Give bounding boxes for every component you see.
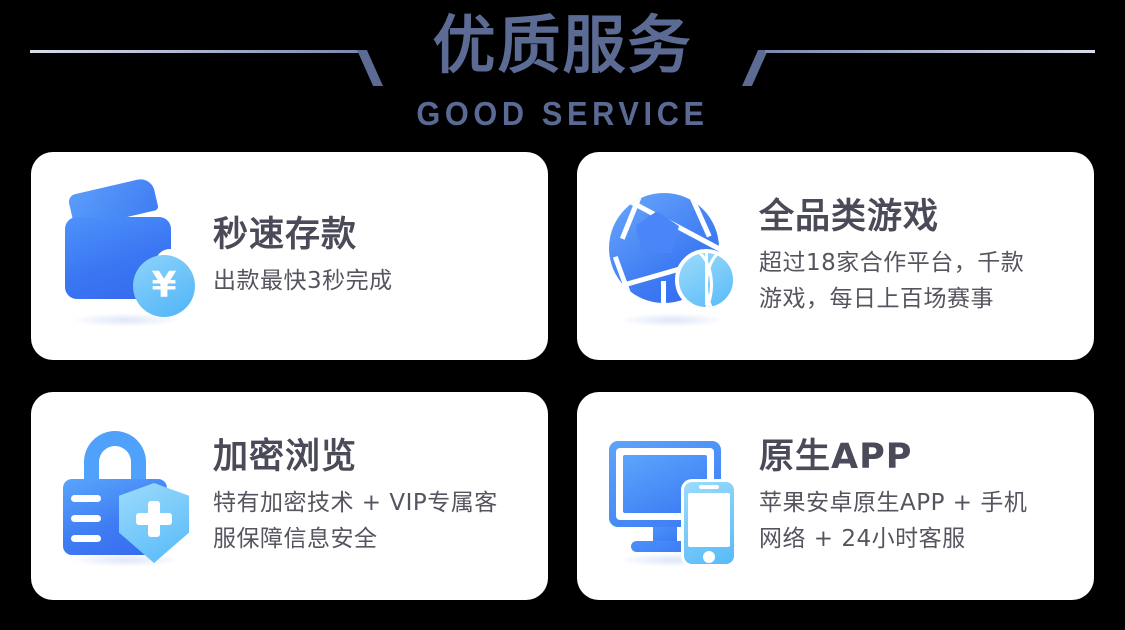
- card-text-block: 原生APP 苹果安卓原生APP + 手机 网络 + 24小时客服: [759, 435, 1037, 557]
- card-subtitle-line: 服保障信息安全: [213, 521, 498, 557]
- card-text-block: 加密浏览 特有加密技术 + VIP专属客 服保障信息安全: [213, 435, 508, 557]
- shield-cross-icon: [148, 501, 160, 537]
- phone-speaker: [699, 485, 719, 489]
- card-subtitle: 出款最快3秒完成: [213, 263, 393, 299]
- card-subtitle-line: 出款最快3秒完成: [213, 263, 393, 299]
- icon-shadow: [71, 553, 181, 567]
- feature-card-all-games[interactable]: 全品类游戏 超过18家合作平台，千款 游戏，每日上百场赛事: [577, 152, 1094, 360]
- card-subtitle: 超过18家合作平台，千款 游戏，每日上百场赛事: [759, 245, 1024, 317]
- card-text-block: 秒速存款 出款最快3秒完成: [213, 213, 403, 299]
- basketball-icon: [675, 249, 737, 311]
- monitor-phone-icon: [603, 421, 753, 571]
- card-title: 加密浏览: [213, 435, 498, 479]
- card-title: 原生APP: [759, 435, 1027, 479]
- page-subtitle: GOOD SERVICE: [39, 95, 1085, 133]
- lock-shield-icon: [57, 421, 207, 571]
- phone-screen: [688, 493, 730, 547]
- lock-slot-line: [71, 535, 101, 542]
- card-text-block: 全品类游戏 超过18家合作平台，千款 游戏，每日上百场赛事: [759, 195, 1034, 317]
- feature-card-instant-deposit[interactable]: ¥ 秒速存款 出款最快3秒完成: [31, 152, 548, 360]
- card-subtitle-line: 特有加密技术 + VIP专属客: [213, 485, 498, 521]
- card-subtitle-line: 游戏，每日上百场赛事: [759, 281, 1024, 317]
- lock-slot-line: [71, 495, 101, 502]
- card-subtitle: 苹果安卓原生APP + 手机 网络 + 24小时客服: [759, 485, 1027, 557]
- page-title: 优质服务: [0, 6, 1125, 86]
- feature-card-grid: ¥ 秒速存款 出款最快3秒完成: [31, 152, 1094, 600]
- feature-card-encrypted-browsing[interactable]: 加密浏览 特有加密技术 + VIP专属客 服保障信息安全: [31, 392, 548, 600]
- soccer-basketball-icon: [603, 181, 753, 331]
- card-subtitle: 特有加密技术 + VIP专属客 服保障信息安全: [213, 485, 498, 557]
- card-subtitle-line: 苹果安卓原生APP + 手机: [759, 485, 1027, 521]
- card-subtitle-line: 超过18家合作平台，千款: [759, 245, 1024, 281]
- lock-slot-line: [71, 515, 101, 522]
- feature-card-native-app[interactable]: 原生APP 苹果安卓原生APP + 手机 网络 + 24小时客服: [577, 392, 1094, 600]
- yen-coin-icon: ¥: [133, 255, 195, 317]
- page-header: 优质服务 GOOD SERVICE: [0, 0, 1125, 150]
- card-title: 秒速存款: [213, 213, 393, 257]
- basketball-seam-right: [705, 249, 737, 311]
- icon-shadow: [617, 313, 727, 327]
- card-title: 全品类游戏: [759, 195, 1024, 239]
- phone-home-button: [703, 551, 715, 563]
- card-subtitle-line: 网络 + 24小时客服: [759, 521, 1027, 557]
- wallet-yen-icon: ¥: [57, 181, 207, 331]
